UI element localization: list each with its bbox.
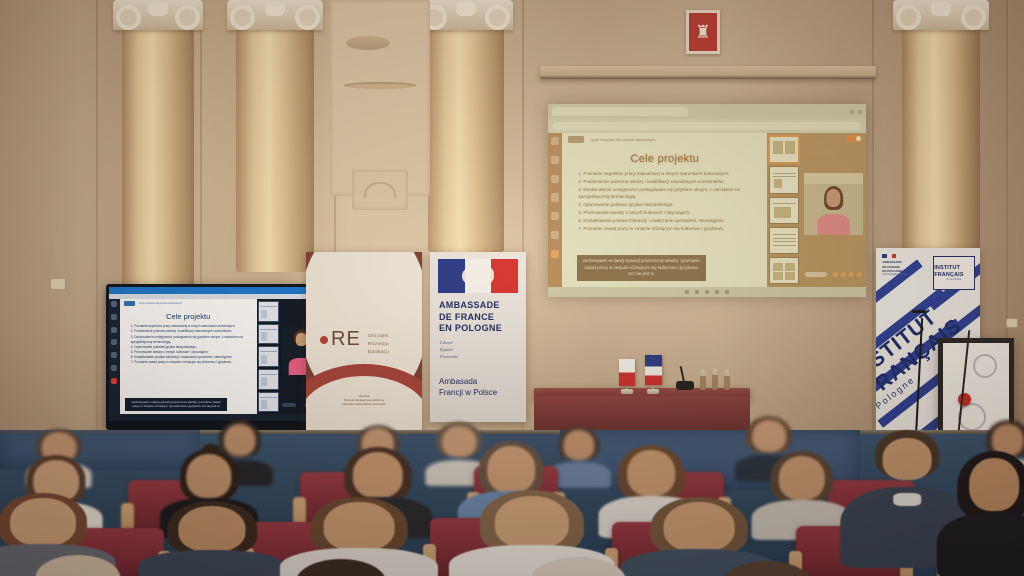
play-icon[interactable] bbox=[695, 290, 699, 294]
audience-person bbox=[156, 506, 268, 576]
app-header: Język francuski dla potrzeb zawodowych bbox=[562, 133, 767, 147]
banner-ambassade-de-france: AMBASSADE DE FRANCE EN POLOGNE Liberté É… bbox=[430, 252, 526, 422]
ore-subtitle: Ośrodek Rozwoju Edukacji bbox=[368, 332, 389, 356]
app-side-rail bbox=[548, 133, 562, 287]
projection-screen-roller bbox=[540, 66, 876, 79]
slide-bullet-list: 1. Poznanie aspektów pracy zawodowej w i… bbox=[562, 170, 767, 233]
next-slide-icon[interactable] bbox=[705, 290, 709, 294]
column-capital bbox=[113, 0, 203, 30]
slide-thumbnail[interactable] bbox=[769, 227, 799, 254]
rail-icon-files[interactable] bbox=[551, 212, 559, 220]
rail-icon-chat[interactable] bbox=[551, 193, 559, 201]
column-capital bbox=[419, 0, 513, 30]
live-caption: zachowywać w danej sytuacji poszerza tę … bbox=[577, 255, 706, 281]
prev-slide-icon[interactable] bbox=[685, 290, 689, 294]
monitor-side-rail bbox=[109, 299, 120, 414]
ionic-column bbox=[236, 0, 314, 272]
audience-person-foreground bbox=[26, 558, 130, 576]
monitor-thumbnail bbox=[258, 324, 279, 345]
bottle-cap bbox=[725, 369, 729, 373]
audience-person-foreground bbox=[520, 560, 636, 576]
ore-footer-text: Ośrodek Rozwoju Edukacji jest publiczną … bbox=[322, 394, 406, 407]
slide-thumbnail[interactable] bbox=[769, 166, 799, 193]
monitor-thumbnail bbox=[258, 301, 279, 322]
french-flag-logo bbox=[438, 259, 518, 293]
monitor-slide-canvas: Język francuski dla potrzeb zawodowych C… bbox=[120, 299, 257, 414]
slide-item: 7. Poznanie zasad pracy w zespole różnią… bbox=[578, 225, 757, 232]
fullscreen-icon[interactable] bbox=[715, 290, 719, 294]
browser-tab[interactable] bbox=[552, 107, 688, 116]
marianne-icon bbox=[462, 265, 494, 286]
audience-person bbox=[552, 430, 606, 488]
microphone-head bbox=[912, 310, 926, 313]
browser-address-bar[interactable] bbox=[548, 119, 866, 133]
ceiling-speaker bbox=[346, 36, 390, 50]
shirt-collar bbox=[893, 493, 921, 506]
slide-item: 4. Opanowanie podstaw języka hiszpańskie… bbox=[578, 201, 757, 208]
slide-item: 2. Podniesienie poziomu wiedzy i kwalifi… bbox=[578, 178, 757, 185]
wall-vent-grille bbox=[352, 170, 408, 210]
projected-browser-window: Język francuski dla potrzeb zawodowych C… bbox=[548, 104, 866, 297]
slide-title: Cele projektu bbox=[562, 153, 767, 165]
app-logo-icon bbox=[568, 136, 584, 143]
eagle-icon: ♜ bbox=[695, 23, 711, 41]
monitor-browser-chrome bbox=[109, 287, 323, 294]
ionic-column bbox=[428, 0, 504, 252]
monitor-thumbnail bbox=[258, 346, 279, 367]
monitor-live-caption: zachowywać w danej sytuacji poszerza tę … bbox=[125, 398, 226, 411]
speaker-avatar bbox=[817, 189, 849, 235]
video-feed-area bbox=[801, 133, 866, 287]
board-ring-mark bbox=[973, 354, 997, 378]
confidence-monitor: Język francuski dla potrzeb zawodowych C… bbox=[106, 284, 326, 430]
conference-hall-photo: ♜ bbox=[0, 0, 1024, 576]
slide-thumbnail-strip bbox=[767, 133, 801, 287]
leave-call-icon[interactable] bbox=[857, 272, 862, 277]
slide-item: 1. Poznanie aspektów pracy zawodowej w i… bbox=[578, 170, 757, 177]
ambasada-polish-title: Ambasada Francji w Polsce bbox=[439, 376, 497, 398]
monitor-bullet-list: 1. Poznanie aspektów pracy zawodowej w i… bbox=[120, 324, 257, 365]
wall-outlet[interactable] bbox=[1006, 318, 1018, 328]
rail-icon-settings[interactable] bbox=[551, 231, 559, 239]
monitor-screen: Język francuski dla potrzeb zawodowych C… bbox=[109, 287, 323, 421]
rail-icon-active[interactable] bbox=[551, 250, 559, 258]
ore-dot-icon bbox=[320, 336, 328, 344]
audience-person-foreground bbox=[712, 564, 822, 576]
rail-icon-files bbox=[111, 352, 117, 358]
slides-toolbar[interactable] bbox=[548, 287, 866, 297]
slide-thumbnail[interactable] bbox=[769, 197, 799, 224]
polish-coat-of-arms: ♜ bbox=[686, 10, 720, 54]
rail-icon-people bbox=[111, 327, 117, 333]
rail-icon-chat bbox=[111, 339, 117, 345]
audience bbox=[0, 410, 1024, 576]
screen-share-icon[interactable] bbox=[849, 272, 854, 277]
slide-item: 6. Kształtowanie postaw tolerancji i zwa… bbox=[578, 217, 757, 224]
slide-thumbnail[interactable] bbox=[769, 257, 799, 284]
slide-item: 3. Doskonalenie umiejętności posługiwani… bbox=[578, 186, 757, 201]
rail-icon-slides bbox=[111, 314, 117, 320]
call-info-pill bbox=[805, 272, 827, 277]
slide-thumbnail[interactable] bbox=[769, 136, 799, 163]
rail-icon-record bbox=[111, 378, 117, 384]
video-call-panel bbox=[767, 133, 866, 287]
app-logo-icon bbox=[124, 301, 135, 306]
wall-vent-panel bbox=[330, 0, 430, 196]
french-motto: Liberté Égalité Fraternité bbox=[440, 339, 458, 360]
institut-header-logo: AMBASSADE DE FRANCE EN POLOGNE Liberté É… bbox=[882, 254, 928, 277]
browser-tab-bar bbox=[548, 104, 866, 119]
speaker-video-tile[interactable] bbox=[804, 173, 864, 235]
conference-microphone bbox=[676, 381, 694, 390]
france-flag bbox=[645, 355, 662, 385]
monitor-thumbnail bbox=[258, 369, 279, 390]
water-bottle bbox=[700, 372, 706, 390]
monitor-slide-item: 7. Poznanie zasad pracy w zespole różnią… bbox=[131, 360, 251, 365]
slide-canvas: Język francuski dla potrzeb zawodowych C… bbox=[562, 133, 767, 287]
wall-outlet[interactable] bbox=[50, 278, 66, 290]
url-field[interactable] bbox=[553, 122, 861, 129]
bottle-cap bbox=[713, 368, 717, 372]
ore-wordmark: RE bbox=[320, 328, 361, 351]
call-control-bar[interactable] bbox=[805, 269, 862, 280]
ionic-column bbox=[122, 0, 194, 300]
monitor-slide-item: 3. Doskonalenie umiejętności posługiwani… bbox=[131, 335, 251, 345]
audience-person bbox=[948, 458, 1024, 576]
rail-icon-menu bbox=[111, 301, 117, 307]
mic-icon[interactable] bbox=[833, 272, 838, 277]
flag-base bbox=[621, 389, 633, 394]
window-controls[interactable] bbox=[850, 110, 862, 114]
rail-icon-slides[interactable] bbox=[551, 156, 559, 164]
institut-francais-logo-box: INSTITUT FRANÇAIS POLOGNE bbox=[933, 256, 975, 290]
water-bottle bbox=[712, 371, 718, 390]
camera-icon[interactable] bbox=[841, 272, 846, 277]
rail-icon-people[interactable] bbox=[551, 175, 559, 183]
flag-base bbox=[647, 389, 659, 394]
slide-item: 5. Promowanie wiedzy o innych kulturach … bbox=[578, 209, 757, 216]
poland-flag bbox=[619, 359, 635, 386]
audience-person-foreground bbox=[286, 562, 396, 576]
column-capital bbox=[893, 0, 989, 30]
more-options-icon[interactable] bbox=[725, 290, 729, 294]
ambassade-title: AMBASSADE DE FRANCE EN POLOGNE bbox=[439, 300, 502, 335]
column-capital bbox=[227, 0, 323, 30]
bottle-cap bbox=[701, 369, 705, 373]
ionic-column bbox=[902, 0, 980, 250]
monitor-thumbnail-strip bbox=[257, 299, 280, 414]
monitor-slide-title: Cele projektu bbox=[120, 312, 257, 321]
projection-screen: Język francuski dla potrzeb zawodowych C… bbox=[548, 104, 866, 297]
water-bottle bbox=[724, 372, 730, 390]
rail-icon-settings bbox=[111, 365, 117, 371]
rail-icon-menu[interactable] bbox=[551, 137, 559, 145]
